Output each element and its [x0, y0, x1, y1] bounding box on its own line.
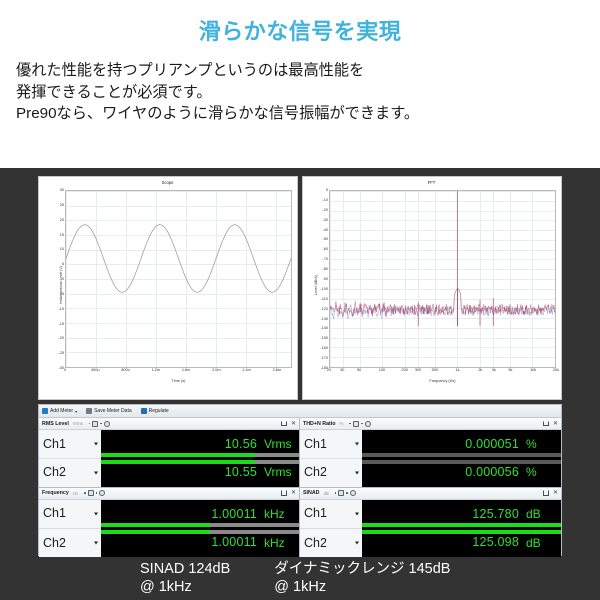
readout-column: 1.00011kHz1.00011kHz: [101, 500, 299, 558]
channel-label: Ch1: [43, 438, 66, 451]
y-tick-label: -30: [323, 218, 329, 222]
settings-icon[interactable]: [353, 421, 359, 427]
panel-header: THD+N Ratio%✕: [300, 418, 561, 430]
panel-header: RMS LevelVrms✕: [39, 418, 299, 430]
menu-dot-icon: [361, 423, 363, 425]
add-meter-icon: [42, 408, 48, 414]
fft-plot-area: [329, 190, 556, 368]
meter-panel-thd-n-ratio: THD+N Ratio%✕Ch1Ch20.000051%0.000056%: [300, 418, 561, 488]
level-bar-fill: [101, 530, 210, 535]
readout-column: 10.56Vrms10.55Vrms: [101, 430, 299, 487]
panel-header: FrequencyHz✕: [39, 488, 299, 500]
captions-row: SINAD 124dB @ 1kHz ダイナミックレンジ 145dB @ 1kH…: [0, 560, 600, 596]
x-tick-label: 5k: [508, 368, 512, 372]
regulate-icon: [141, 408, 147, 414]
panel-title: RMS Level: [42, 421, 69, 427]
close-icon[interactable]: ✕: [291, 490, 296, 496]
level-bar-ch2: [101, 460, 299, 465]
panel-window-controls[interactable]: ✕: [281, 490, 296, 496]
y-tick-label: -40: [323, 228, 329, 232]
y-tick-label: -20: [323, 208, 329, 212]
channel-selector-column: Ch1Ch2: [300, 430, 362, 487]
readout-value: 1.00011: [211, 508, 257, 521]
x-tick-label: 2.8m: [273, 368, 281, 372]
menu-dot-icon: [84, 492, 86, 494]
readout-unit: dB: [526, 537, 556, 549]
fft-plot: Level (dBrA) 0-10-20-30-40-50-60-70-80-9…: [305, 186, 558, 384]
level-bar-ch1: [101, 523, 299, 528]
fft-x-axis-label: Frequency (Hz): [329, 379, 556, 383]
body-copy: 優れた性能を持つプリアンプというのは最高性能を 発揮できることが必須です。 Pr…: [16, 60, 600, 125]
x-tick-label: 1.6m: [182, 368, 190, 372]
y-tick-label: -25: [59, 351, 65, 355]
x-tick-label: 20k: [553, 368, 559, 372]
x-tick-label: 0: [64, 368, 66, 372]
level-bar-group: [362, 450, 561, 466]
readout-value: 0.000056: [465, 466, 519, 479]
meter-panel-rms-level: RMS LevelVrms✕Ch1Ch210.56Vrms10.55Vrms: [39, 418, 300, 488]
level-bar-fill: [101, 460, 255, 465]
y-tick-label: -100: [320, 287, 328, 291]
readout-value: 0.000051: [465, 438, 519, 451]
channel-selector-ch2[interactable]: Ch2: [39, 529, 101, 557]
y-tick-label: -70: [323, 257, 329, 261]
panel-unit-hint: Hz: [73, 491, 78, 496]
panel-tools[interactable]: [349, 421, 370, 427]
menu-dot-icon: [335, 492, 337, 494]
level-bar-ch1: [362, 453, 561, 458]
expand-icon[interactable]: [543, 421, 549, 427]
channel-selector-column: Ch1Ch2: [39, 430, 101, 487]
channel-label: Ch2: [43, 466, 66, 479]
add-meter-label: Add Meter: [50, 408, 73, 414]
readout-unit: Vrms: [264, 466, 294, 478]
x-tick-label: 300: [415, 368, 421, 372]
channel-label: Ch2: [304, 466, 327, 479]
channel-label: Ch1: [43, 507, 66, 520]
settings-icon[interactable]: [338, 490, 344, 496]
panel-unit-hint: Vrms: [73, 421, 83, 426]
y-tick-label: -60: [323, 247, 329, 251]
readout-unit: Vrms: [264, 438, 294, 450]
settings-icon[interactable]: [88, 490, 94, 496]
scope-x-axis-label: Time (s): [65, 379, 292, 383]
readout-column: 125.780dB125.098dB: [362, 500, 561, 558]
menu-dot-icon: [96, 492, 98, 494]
x-tick-label: 100: [379, 368, 385, 372]
level-bar-group: [101, 520, 299, 536]
level-bar-group: [101, 450, 299, 466]
chevron-down-icon[interactable]: [94, 541, 98, 544]
menu-dot-icon: [346, 492, 348, 494]
save-meter-data-button[interactable]: Save Meter Data: [86, 408, 132, 414]
readout-unit: dB: [526, 508, 556, 520]
y-tick-label: 20: [60, 218, 64, 222]
panel-window-controls[interactable]: ✕: [543, 421, 558, 427]
y-tick-label: -120: [320, 307, 328, 311]
y-tick-label: -160: [320, 346, 328, 350]
x-tick-label: 30: [340, 368, 344, 372]
target-icon[interactable]: [350, 490, 356, 496]
scope-waveform-trace: [66, 191, 291, 326]
channel-selector-column: Ch1Ch2: [39, 500, 101, 558]
panel-header: SINADdB✕: [300, 488, 561, 500]
y-tick-label: -90: [323, 277, 329, 281]
fft-y-ticks: 0-10-20-30-40-50-60-70-80-90-100-110-120…: [311, 190, 328, 368]
channel-label: Ch2: [43, 537, 66, 550]
readout-unit: %: [526, 466, 556, 478]
chevron-down-icon[interactable]: [355, 471, 359, 474]
y-tick-label: -10: [323, 198, 329, 202]
x-tick-label: 200: [401, 368, 407, 372]
readout-unit: kHz: [264, 508, 294, 520]
panel-unit-hint: dB: [323, 491, 328, 496]
meter-panel-frequency: FrequencyHz✕Ch1Ch21.00011kHz1.00011kHz: [39, 488, 300, 558]
channel-selector-ch2[interactable]: Ch2: [39, 459, 101, 487]
readout-column: 0.000051%0.000056%: [362, 430, 561, 487]
x-tick-label: 50: [357, 368, 361, 372]
y-tick-label: -150: [320, 336, 328, 340]
expand-icon[interactable]: [281, 490, 287, 496]
level-bar-fill: [101, 453, 255, 458]
product-slide: 滑らかな信号を実現 優れた性能を持つプリアンプというのは最高性能を 発揮できるこ…: [0, 0, 600, 600]
page-title: 滑らかな信号を実現: [0, 0, 600, 46]
scope-plot-area: [65, 190, 292, 368]
scope-y-ticks: 302520151050-5-10-15-20-25-30: [47, 190, 64, 368]
panel-body: Ch1Ch210.56Vrms10.55Vrms: [39, 430, 299, 487]
add-meter-button[interactable]: Add Meter ▾: [42, 408, 77, 414]
readout-unit: %: [526, 438, 556, 450]
chevron-down-icon[interactable]: [355, 541, 359, 544]
chevron-down-icon[interactable]: [94, 471, 98, 474]
level-bar-fill: [362, 530, 561, 535]
close-icon[interactable]: ✕: [553, 421, 558, 427]
readout-unit: kHz: [264, 537, 294, 549]
x-tick-label: 3k: [492, 368, 496, 372]
chevron-down-icon[interactable]: [355, 442, 359, 445]
chevron-down-icon[interactable]: [94, 512, 98, 515]
menu-dot-icon: [89, 423, 91, 425]
panel-tools[interactable]: [89, 421, 110, 427]
caption-dynamic-range: ダイナミックレンジ 145dB @ 1kHz: [274, 560, 450, 596]
y-tick-label: 5: [62, 262, 64, 266]
caption-sinad: SINAD 124dB @ 1kHz: [140, 560, 230, 596]
panel-window-controls[interactable]: ✕: [543, 490, 558, 496]
meter-panel-grid: RMS LevelVrms✕Ch1Ch210.56Vrms10.55VrmsTH…: [39, 418, 561, 557]
x-tick-label: 2k: [478, 368, 482, 372]
chevron-down-icon[interactable]: [355, 512, 359, 515]
panel-unit-hint: %: [340, 421, 344, 426]
x-tick-label: 1k: [456, 368, 460, 372]
panel-window-controls[interactable]: ✕: [281, 421, 296, 427]
x-tick-label: 800u: [121, 368, 129, 372]
readout-value: 125.780: [472, 508, 519, 521]
y-tick-label: -80: [323, 267, 329, 271]
channel-label: Ch2: [304, 537, 327, 550]
channel-selector-ch2[interactable]: Ch2: [300, 459, 362, 487]
y-tick-label: -140: [320, 326, 328, 330]
y-tick-label: 25: [60, 203, 64, 207]
x-tick-label: 2.4m: [242, 368, 250, 372]
scope-chart-title: Scope: [41, 179, 294, 186]
expand-icon[interactable]: [543, 490, 549, 496]
chevron-down-icon[interactable]: [94, 442, 98, 445]
level-bar-ch2: [101, 530, 299, 535]
save-meter-data-label: Save Meter Data: [94, 408, 132, 414]
channel-selector-ch1[interactable]: Ch1: [300, 500, 362, 529]
target-icon[interactable]: [104, 421, 110, 427]
y-tick-label: -50: [323, 237, 329, 241]
channel-selector-ch1[interactable]: Ch1: [39, 430, 101, 459]
settings-icon[interactable]: [92, 421, 98, 427]
save-icon: [86, 408, 92, 414]
x-tick-label: 2.0m: [212, 368, 220, 372]
meter-toolbar: Add Meter ▾ Save Meter Data Regulate: [39, 405, 561, 418]
fft-x-ticks: 2030501002003005001k2k3k5k10k20k: [329, 368, 556, 376]
x-tick-label: 1.2m: [152, 368, 160, 372]
level-bar-ch2: [362, 460, 561, 465]
x-tick-label: 10k: [530, 368, 536, 372]
y-tick-label: -170: [320, 356, 328, 360]
target-icon[interactable]: [365, 421, 371, 427]
y-tick-label: -130: [320, 317, 328, 321]
level-bar-fill: [101, 523, 210, 528]
close-icon[interactable]: ✕: [553, 490, 558, 496]
readout-value: 10.56: [225, 438, 257, 451]
panel-tools[interactable]: [84, 490, 105, 496]
channel-label: Ch1: [304, 438, 327, 451]
level-bar-ch1: [101, 453, 299, 458]
channel-selector-ch2[interactable]: Ch2: [300, 529, 362, 557]
y-tick-label: -110: [321, 297, 328, 301]
fft-chart-title: FFT: [305, 179, 558, 186]
panel-title: THD+N Ratio: [303, 421, 336, 427]
y-tick-label: -10: [59, 307, 65, 311]
panel-tools[interactable]: [335, 490, 356, 496]
channel-label: Ch1: [304, 507, 327, 520]
regulate-label: Regulate: [149, 408, 169, 414]
channel-selector-ch1[interactable]: Ch1: [39, 500, 101, 529]
y-tick-label: -20: [59, 336, 65, 340]
panel-body: Ch1Ch21.00011kHz1.00011kHz: [39, 500, 299, 558]
close-icon[interactable]: ✕: [291, 421, 296, 427]
y-tick-label: -15: [59, 322, 65, 326]
y-tick-label: -5: [61, 292, 64, 296]
panel-title: Frequency: [42, 490, 69, 496]
level-bar-fill: [362, 523, 561, 528]
x-tick-label: 500: [432, 368, 438, 372]
charts-row: Scope Instantaneous Level (V) 3025201510…: [38, 176, 562, 400]
scope-chart-card: Scope Instantaneous Level (V) 3025201510…: [38, 176, 298, 400]
regulate-button[interactable]: Regulate: [141, 408, 169, 414]
screenshot-stage: Scope Instantaneous Level (V) 3025201510…: [0, 168, 600, 600]
target-icon[interactable]: [99, 490, 105, 496]
readout-value: 10.55: [225, 466, 257, 479]
menu-dot-icon: [100, 423, 102, 425]
y-tick-label: 0: [326, 188, 328, 192]
fft-chart-card: FFT Level (dBrA) 0-10-20-30-40-50-60-70-…: [302, 176, 562, 400]
y-tick-label: 0: [62, 277, 64, 281]
channel-selector-column: Ch1Ch2: [300, 500, 362, 558]
level-bar-group: [362, 520, 561, 536]
y-tick-label: 15: [60, 233, 64, 237]
readout-value: 1.00011: [211, 536, 257, 549]
readout-value: 125.098: [472, 536, 519, 549]
meter-application: Add Meter ▾ Save Meter Data Regulate RMS…: [38, 404, 562, 556]
expand-icon[interactable]: [281, 421, 287, 427]
menu-dot-icon: [349, 423, 351, 425]
x-tick-label: 400u: [91, 368, 99, 372]
chevron-down-icon: ▾: [75, 409, 77, 414]
scope-plot: Instantaneous Level (V) 302520151050-5-1…: [41, 186, 294, 384]
level-bar-ch2: [362, 530, 561, 535]
x-tick-label: 20: [327, 368, 331, 372]
panel-title: SINAD: [303, 490, 319, 496]
channel-selector-ch1[interactable]: Ch1: [300, 430, 362, 459]
meter-panel-sinad: SINADdB✕Ch1Ch2125.780dB125.098dB: [300, 488, 561, 558]
panel-body: Ch1Ch2125.780dB125.098dB: [300, 500, 561, 558]
panel-body: Ch1Ch20.000051%0.000056%: [300, 430, 561, 487]
y-tick-label: 10: [60, 247, 64, 251]
level-bar-ch1: [362, 523, 561, 528]
scope-x-ticks: 0400u800u1.2m1.6m2.0m2.4m2.8m: [65, 368, 292, 376]
y-tick-label: 30: [60, 188, 64, 192]
fft-spectrum-trace: [330, 191, 555, 326]
